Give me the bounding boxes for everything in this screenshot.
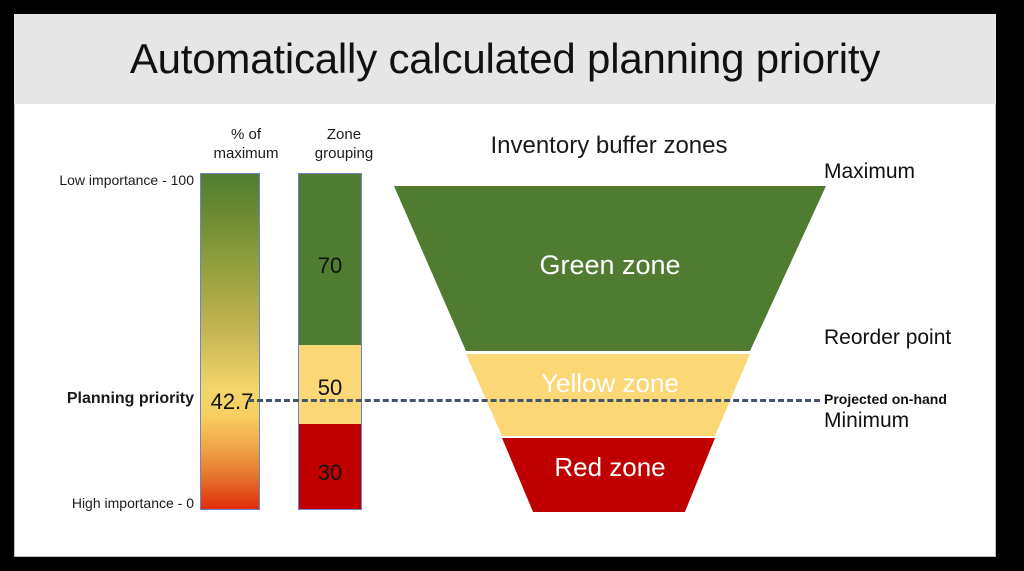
slide-canvas: Automatically calculated planning priori… — [0, 0, 1024, 571]
slide-page: Automatically calculated planning priori… — [14, 14, 996, 557]
column-header-zone-grouping: Zone grouping — [284, 126, 404, 164]
zone-segment-yellow: 50 — [299, 345, 361, 424]
zone-segment-red: 30 — [299, 424, 361, 509]
inventory-buffer-funnel: Green zone Yellow zone Red zone — [380, 172, 840, 512]
scale-bottom-label: High importance - 0 — [14, 495, 194, 511]
priority-gradient-bar — [200, 173, 260, 510]
label-reorder-point: Reorder point — [824, 326, 951, 350]
label-projected-on-hand: Projected on-hand — [824, 391, 947, 407]
title-banner: Automatically calculated planning priori… — [14, 14, 996, 104]
funnel-red-shape — [502, 438, 715, 512]
zone-segment-green: 70 — [299, 174, 361, 345]
planning-priority-label: Planning priority — [14, 390, 194, 408]
funnel-yellow-shape — [466, 354, 750, 436]
label-minimum: Minimum — [824, 409, 909, 433]
zone-yellow-value: 50 — [318, 375, 342, 401]
funnel-green-shape — [394, 186, 826, 351]
zone-green-value: 70 — [318, 253, 342, 279]
funnel-shapes — [380, 172, 840, 512]
zone-grouping-bar: 70 50 30 — [298, 173, 362, 510]
column-header-inventory-buffer-zones: Inventory buffer zones — [394, 132, 824, 160]
scale-top-label: Low importance - 100 — [14, 172, 194, 188]
page-title: Automatically calculated planning priori… — [130, 35, 880, 83]
zone-red-value: 30 — [318, 460, 342, 486]
planning-priority-value: 42.7 — [204, 389, 260, 415]
projected-on-hand-dashed-line — [248, 399, 820, 402]
label-maximum: Maximum — [824, 160, 915, 184]
zone-header-line2: grouping — [284, 145, 404, 164]
zone-header-line1: Zone — [284, 126, 404, 145]
